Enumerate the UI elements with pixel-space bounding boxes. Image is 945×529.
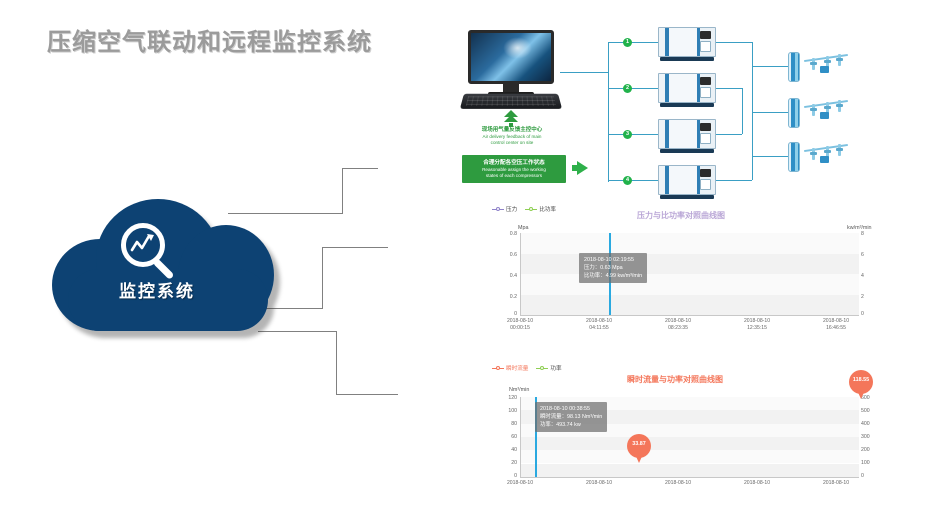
legend-label-specific-power: 比功率 [539, 205, 556, 213]
chart1-tooltip-time: 2018-08-10 02:19:55 [584, 256, 642, 264]
callout-cn: 合理分配各空压工作状态 [483, 159, 545, 167]
legend-marker-instant-flow [492, 365, 504, 371]
chart1-ytick-left-0: 0.8 [499, 231, 517, 237]
chart1-ytick-right-2: 4 [861, 273, 875, 279]
working-state-callout: 合理分配各空压工作状态 Reasonable assign the workin… [462, 155, 566, 183]
legend-item-pressure[interactable]: 压力 [492, 205, 517, 213]
chart1-xtick-2-time: 08:23:35 [653, 325, 703, 332]
chart2-xtick-1: 2018-08-10 [574, 480, 624, 487]
pipe-branch-3 [608, 134, 658, 135]
chart1-ytick-right-1: 6 [861, 252, 875, 258]
chart2-ylabel-left: Nm³/min [509, 387, 529, 393]
node-2: 2 [623, 84, 632, 93]
chart2-ytick-right-4: 200 [861, 447, 881, 453]
compressor-unit-2 [658, 73, 716, 107]
slide-canvas: 压缩空气联动和远程监控系统 监控系统 [0, 0, 945, 529]
pipe-to-tank-1 [752, 66, 788, 67]
chart1-xtick-3-time: 12:35:15 [732, 325, 782, 332]
chart2-ytick-right-3: 300 [861, 434, 881, 440]
chart1-xtick-3-date: 2018-08-10 [732, 318, 782, 325]
pipe-branch-1 [608, 42, 658, 43]
chart2-ytick-left-0: 120 [495, 395, 517, 401]
chart2-max-marker-value: 118.55 [849, 377, 873, 383]
chart1-xtick-0: 2018-08-10 00:00:15 [495, 318, 545, 332]
control-center-monitor-icon [462, 30, 560, 112]
legend-marker-pressure [492, 206, 504, 212]
air-tank-3 [788, 142, 800, 172]
chart2-min-marker[interactable]: 33.87 [627, 434, 651, 464]
chart2-xtick-2: 2018-08-10 [653, 480, 703, 487]
chart2-ytick-right-6: 0 [861, 473, 881, 479]
chart2-xtick-3: 2018-08-10 [732, 480, 782, 487]
pipe-to-tank-3 [752, 156, 788, 157]
chart2-ytick-left-3: 60 [495, 434, 517, 440]
pipe-branch-4 [608, 180, 658, 181]
chart1-xtick-1-time: 04:11:55 [574, 325, 624, 332]
chart1-xtick-0-date: 2018-08-10 [495, 318, 545, 325]
page-title: 压缩空气联动和远程监控系统 [47, 22, 372, 57]
pipe-collector-outer [752, 42, 753, 180]
instant-flow-vs-power-chart: 瞬时流量 功率 瞬时流量与功率对照曲线图 Nm³/min 120 100 80 … [487, 362, 897, 522]
node-1: 1 [623, 38, 632, 47]
chart2-tooltip-time: 2018-08-10 00:38:55 [540, 405, 602, 413]
chart1-xtick-2-date: 2018-08-10 [653, 318, 703, 325]
compressor-unit-4 [658, 165, 716, 199]
chart2-xtick-3-date: 2018-08-10 [732, 480, 782, 487]
monitor-caption-cn: 现场用气量反馈主控中心 [462, 126, 562, 134]
pressure-vs-specific-power-chart: 压力 比功率 压力与比功率对照曲线图 Mpa kw/m³/min 0.8 0.6… [487, 203, 897, 335]
chart1-tooltip-line2: 比功率：4.99 kw/m³/min [584, 272, 642, 280]
chart1-plot-area[interactable] [520, 233, 859, 316]
chart1-xtick-1: 2018-08-10 04:11:55 [574, 318, 624, 332]
tree-icon [504, 110, 518, 126]
chart2-ytick-left-6: 0 [495, 473, 517, 479]
compressed-air-system-diagram: 现场用气量反馈主控中心 Air delivery feedback of mai… [440, 22, 940, 202]
callout-en-2: states of each compressors [486, 173, 542, 179]
chart1-ytick-left-4: 0 [499, 311, 517, 317]
pipe-out-1 [716, 42, 752, 43]
legend-label-power: 功率 [550, 364, 561, 372]
compressor-unit-1 [658, 27, 716, 61]
pipe-to-tank-2 [752, 112, 788, 113]
legend-marker-power [536, 365, 548, 371]
chart2-ytick-left-2: 80 [495, 421, 517, 427]
air-tank-2 [788, 98, 800, 128]
chart1-ytick-right-3: 2 [861, 294, 875, 300]
pipe-out-4 [716, 180, 752, 181]
node-3: 3 [623, 130, 632, 139]
chart1-tooltip: 2018-08-10 02:19:55 压力：0.63 Mpa 比功率：4.99… [579, 253, 647, 283]
distribution-line-3 [804, 142, 850, 168]
chart2-tooltip-line2: 功率：493.74 kw [540, 421, 602, 429]
monitor-caption-en-2: control center on site [462, 140, 562, 146]
pipe-branch-2 [608, 88, 658, 89]
distribution-line-1 [804, 52, 850, 78]
legend-item-instant-flow[interactable]: 瞬时流量 [492, 364, 528, 372]
chart2-xtick-4: 2018-08-10 [811, 480, 861, 487]
green-arrow-icon [577, 161, 588, 175]
distribution-line-2 [804, 98, 850, 124]
chart2-xtick-0: 2018-08-10 [495, 480, 545, 487]
chart2-tooltip-line1: 瞬时流量：98.13 Nm³/min [540, 413, 602, 421]
legend-item-power[interactable]: 功率 [536, 364, 561, 372]
chart1-xtick-2: 2018-08-10 08:23:35 [653, 318, 703, 332]
chart2-title: 瞬时流量与功率对照曲线图 [627, 374, 723, 385]
legend-marker-specific-power [525, 206, 537, 212]
chart1-xtick-1-date: 2018-08-10 [574, 318, 624, 325]
pipe-vertical-bus-left [608, 42, 609, 182]
connector-line-3 [258, 331, 398, 395]
pipe-out-2 [716, 88, 742, 89]
air-tank-1 [788, 52, 800, 82]
chart1-ytick-left-2: 0.4 [499, 273, 517, 279]
chart2-ytick-right-2: 400 [861, 421, 881, 427]
chart1-ytick-left-3: 0.2 [499, 294, 517, 300]
node-4: 4 [623, 176, 632, 185]
legend-item-specific-power[interactable]: 比功率 [525, 205, 556, 213]
chart2-legend: 瞬时流量 功率 [492, 364, 562, 372]
chart1-xtick-4: 2018-08-10 16:46:55 [811, 318, 861, 332]
chart2-ytick-right-5: 100 [861, 460, 881, 466]
chart2-xtick-4-date: 2018-08-10 [811, 480, 861, 487]
chart1-legend: 压力 比功率 [492, 205, 556, 213]
chart2-min-marker-value: 33.87 [627, 441, 651, 447]
chart1-title: 压力与比功率对照曲线图 [637, 210, 725, 221]
chart2-xtick-1-date: 2018-08-10 [574, 480, 624, 487]
monitoring-system-cloud[interactable]: 监控系统 [38, 185, 298, 335]
pipe-out-3 [716, 134, 742, 135]
chart1-ytick-left-1: 0.6 [499, 252, 517, 258]
magnifier-chart-icon [121, 223, 183, 285]
chart1-xtick-0-time: 00:00:15 [495, 325, 545, 332]
pipe-collector-inner [742, 88, 743, 134]
chart2-ytick-left-5: 20 [495, 460, 517, 466]
chart1-ytick-right-0: 8 [861, 231, 875, 237]
pipe-monitor-to-bus [560, 72, 608, 73]
chart2-tooltip: 2018-08-10 00:38:55 瞬时流量：98.13 Nm³/min 功… [535, 402, 607, 432]
chart2-xtick-0-date: 2018-08-10 [495, 480, 545, 487]
chart1-xtick-4-date: 2018-08-10 [811, 318, 861, 325]
chart2-ytick-left-1: 100 [495, 408, 517, 414]
legend-label-instant-flow: 瞬时流量 [506, 364, 528, 372]
chart2-ytick-left-4: 40 [495, 447, 517, 453]
chart1-ytick-right-4: 0 [861, 311, 875, 317]
cloud-label: 监控系统 [38, 277, 276, 302]
chart1-xtick-4-time: 16:46:55 [811, 325, 861, 332]
legend-label-pressure: 压力 [506, 205, 517, 213]
compressor-unit-3 [658, 119, 716, 153]
chart1-ylabel-left: Mpa [518, 225, 529, 231]
chart2-ytick-right-1: 500 [861, 408, 881, 414]
chart2-max-marker[interactable]: 118.55 [849, 370, 873, 400]
chart1-tooltip-line1: 压力：0.63 Mpa [584, 264, 642, 272]
chart1-xtick-3: 2018-08-10 12:35:15 [732, 318, 782, 332]
monitor-caption: 现场用气量反馈主控中心 Air delivery feedback of mai… [462, 126, 562, 146]
chart2-xtick-2-date: 2018-08-10 [653, 480, 703, 487]
